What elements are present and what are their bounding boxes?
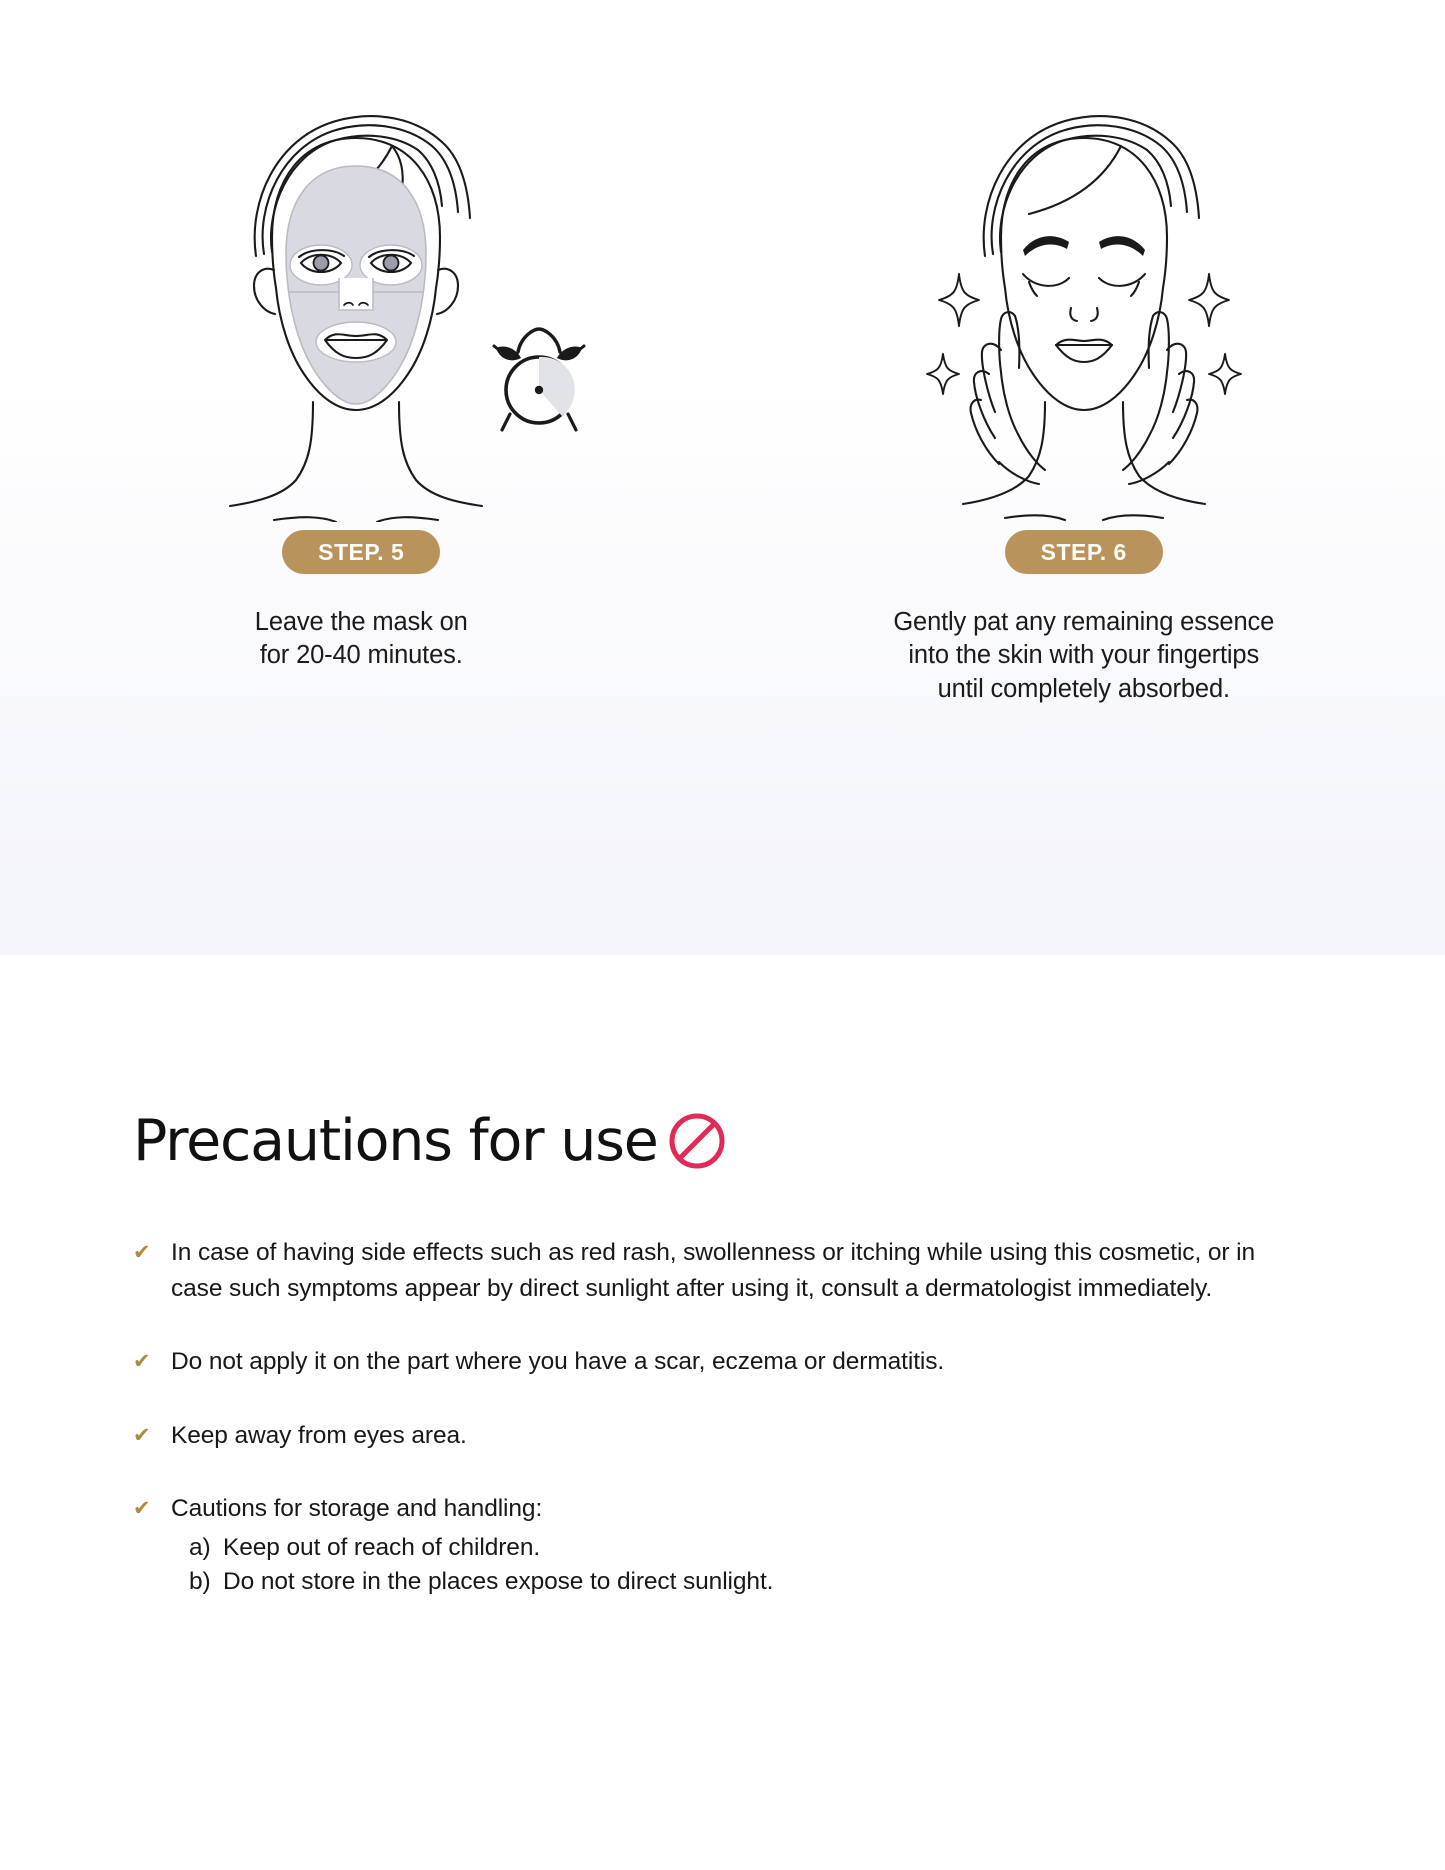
list-item: ✔ In case of having side effects such as… (133, 1235, 1303, 1306)
list-item: ✔ Keep away from eyes area. (133, 1418, 1303, 1454)
precaution-text: Keep away from eyes area. (171, 1418, 467, 1454)
sparkle-icon (927, 354, 959, 394)
step-badge-label: STEP. 5 (318, 541, 404, 564)
precautions-section: Precautions for use ✔ In case of having … (0, 955, 1445, 1870)
list-item: ✔ Cautions for storage and handling: a) … (133, 1491, 1303, 1600)
sparkle-icon (1209, 354, 1241, 394)
product-instruction-page: STEP. 5 Leave the mask on for 20-40 minu… (0, 0, 1445, 1870)
precaution-text: In case of having side effects such as r… (171, 1235, 1301, 1306)
face-patting-fingertips-icon (919, 102, 1249, 522)
face-with-sheet-mask-icon (196, 102, 526, 522)
check-icon: ✔ (133, 1425, 159, 1446)
step-caption-6: Gently pat any remaining essence into th… (893, 606, 1274, 706)
list-item: a) Keep out of reach of children. (171, 1531, 773, 1566)
step-caption-line: until completely absorbed. (893, 673, 1274, 706)
list-item: ✔ Do not apply it on the part where you … (133, 1344, 1303, 1380)
step-caption-5: Leave the mask on for 20-40 minutes. (255, 606, 468, 673)
check-icon: ✔ (133, 1498, 159, 1519)
sub-item-text: Keep out of reach of children. (223, 1531, 540, 1566)
sub-item-text: Do not store in the places expose to dir… (223, 1565, 773, 1600)
step-badge-label: STEP. 6 (1041, 541, 1127, 564)
sparkle-icon (939, 274, 979, 326)
check-icon: ✔ (133, 1351, 159, 1372)
step-caption-line: Leave the mask on (255, 606, 468, 639)
precaution-text: Do not apply it on the part where you ha… (171, 1344, 944, 1380)
check-icon: ✔ (133, 1242, 159, 1263)
step-caption-line: into the skin with your fingertips (893, 639, 1274, 672)
step-card-5: STEP. 5 Leave the mask on for 20-40 minu… (0, 0, 723, 706)
sub-item-marker: b) (189, 1565, 223, 1600)
step-badge-5: STEP. 5 (282, 530, 440, 574)
precaution-text: Cautions for storage and handling: (171, 1491, 773, 1527)
step-caption-line: for 20-40 minutes. (255, 639, 468, 672)
alarm-clock-icon (488, 322, 590, 434)
step-caption-line: Gently pat any remaining essence (893, 606, 1274, 639)
step-badge-6: STEP. 6 (1005, 530, 1163, 574)
precautions-list: ✔ In case of having side effects such as… (133, 1235, 1303, 1638)
steps-row: STEP. 5 Leave the mask on for 20-40 minu… (0, 0, 1445, 706)
step-5-illustration (0, 0, 723, 530)
sparkle-icon (1189, 274, 1229, 326)
sub-item-marker: a) (189, 1531, 223, 1566)
steps-section: STEP. 5 Leave the mask on for 20-40 minu… (0, 0, 1445, 955)
step-card-6: STEP. 6 Gently pat any remaining essence… (723, 0, 1445, 706)
prohibition-icon (666, 1110, 728, 1172)
step-6-illustration (723, 0, 1445, 530)
precaution-sub-list: a) Keep out of reach of children. b) Do … (171, 1531, 773, 1601)
list-item: b) Do not store in the places expose to … (171, 1565, 773, 1600)
page-title: Precautions for use (133, 1113, 658, 1170)
precautions-heading: Precautions for use (133, 1110, 728, 1172)
